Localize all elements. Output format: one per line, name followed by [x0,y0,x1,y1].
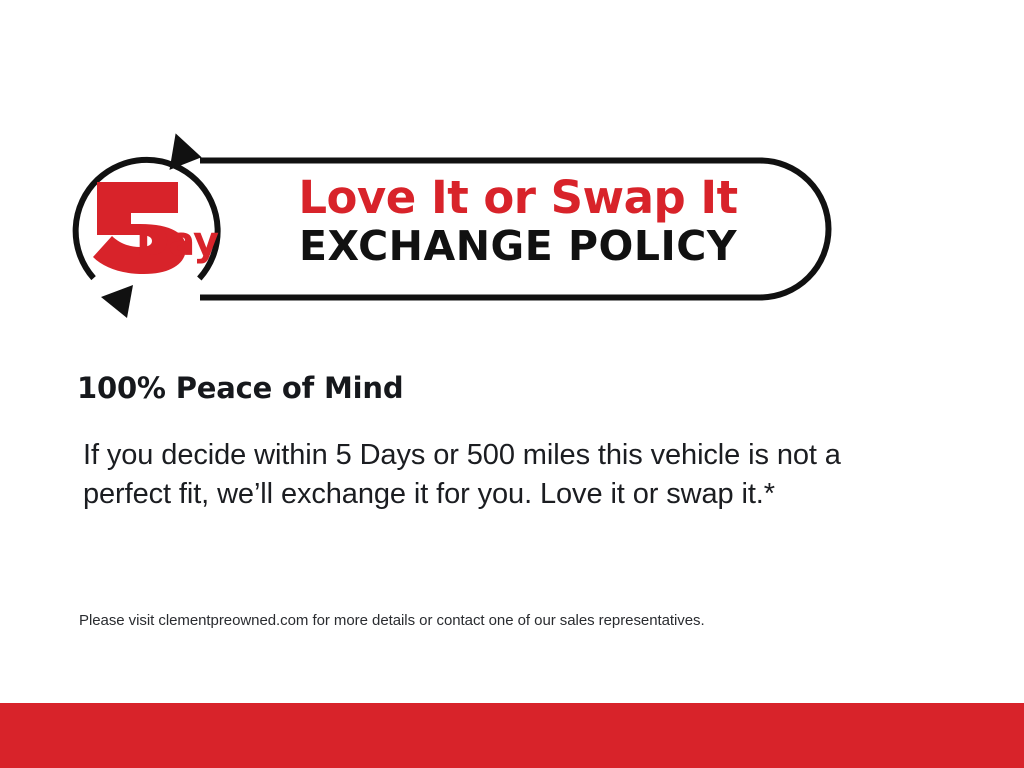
refresh-arrow-bottom-head [101,285,133,318]
badge-graphic [0,0,1024,340]
policy-body-text: If you decide within 5 Days or 500 miles… [83,436,873,514]
fine-print-disclaimer: Please visit clementpreowned.com for mor… [79,612,705,629]
headline-secondary: EXCHANGE POLICY [248,224,788,270]
footer-accent-bar [0,703,1024,768]
headline-primary: Love It or Swap It [248,175,788,222]
exchange-policy-promo-card: Day Love It or Swap It EXCHANGE POLICY 1… [0,0,1024,768]
banner-heading-group: Love It or Swap It EXCHANGE POLICY [248,175,788,270]
peace-of-mind-subheading: 100% Peace of Mind [77,371,403,405]
logo-day-label: Day [136,222,218,262]
badge-lockup: Day Love It or Swap It EXCHANGE POLICY [0,0,1024,340]
